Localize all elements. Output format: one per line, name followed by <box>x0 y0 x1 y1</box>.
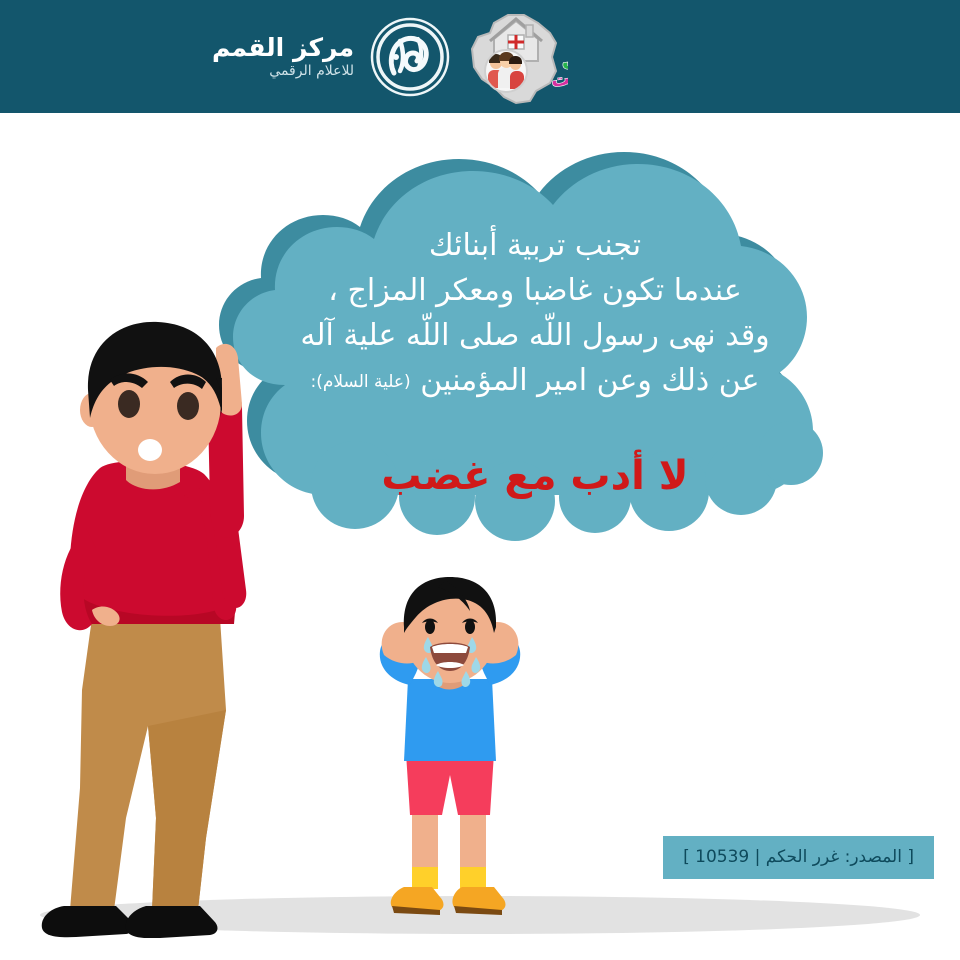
circular-calligraphy-emblem-icon <box>370 17 450 97</box>
header-bar: عراقي بيت مركز القمم للاعلام الرقمي <box>0 0 960 113</box>
crying-child-figure <box>350 575 550 925</box>
iraq-logo-arabic-text: عراقي بيت <box>490 41 568 93</box>
angry-father-figure <box>30 318 330 938</box>
source-badge: [ المصدر: غرر الحكم | 10539 ] <box>663 836 934 879</box>
poster-canvas: عراقي بيت مركز القمم للاعلام الرقمي <box>0 0 960 960</box>
brand-subtitle: للاعلام الرقمي <box>269 64 354 79</box>
brand-title: مركز القمم <box>212 34 354 62</box>
iraq-map-house-logo-icon: عراقي بيت <box>464 9 568 105</box>
svg-text:بيت: بيت <box>550 65 568 92</box>
brand-text-block: مركز القمم للاعلام الرقمي <box>212 34 356 80</box>
